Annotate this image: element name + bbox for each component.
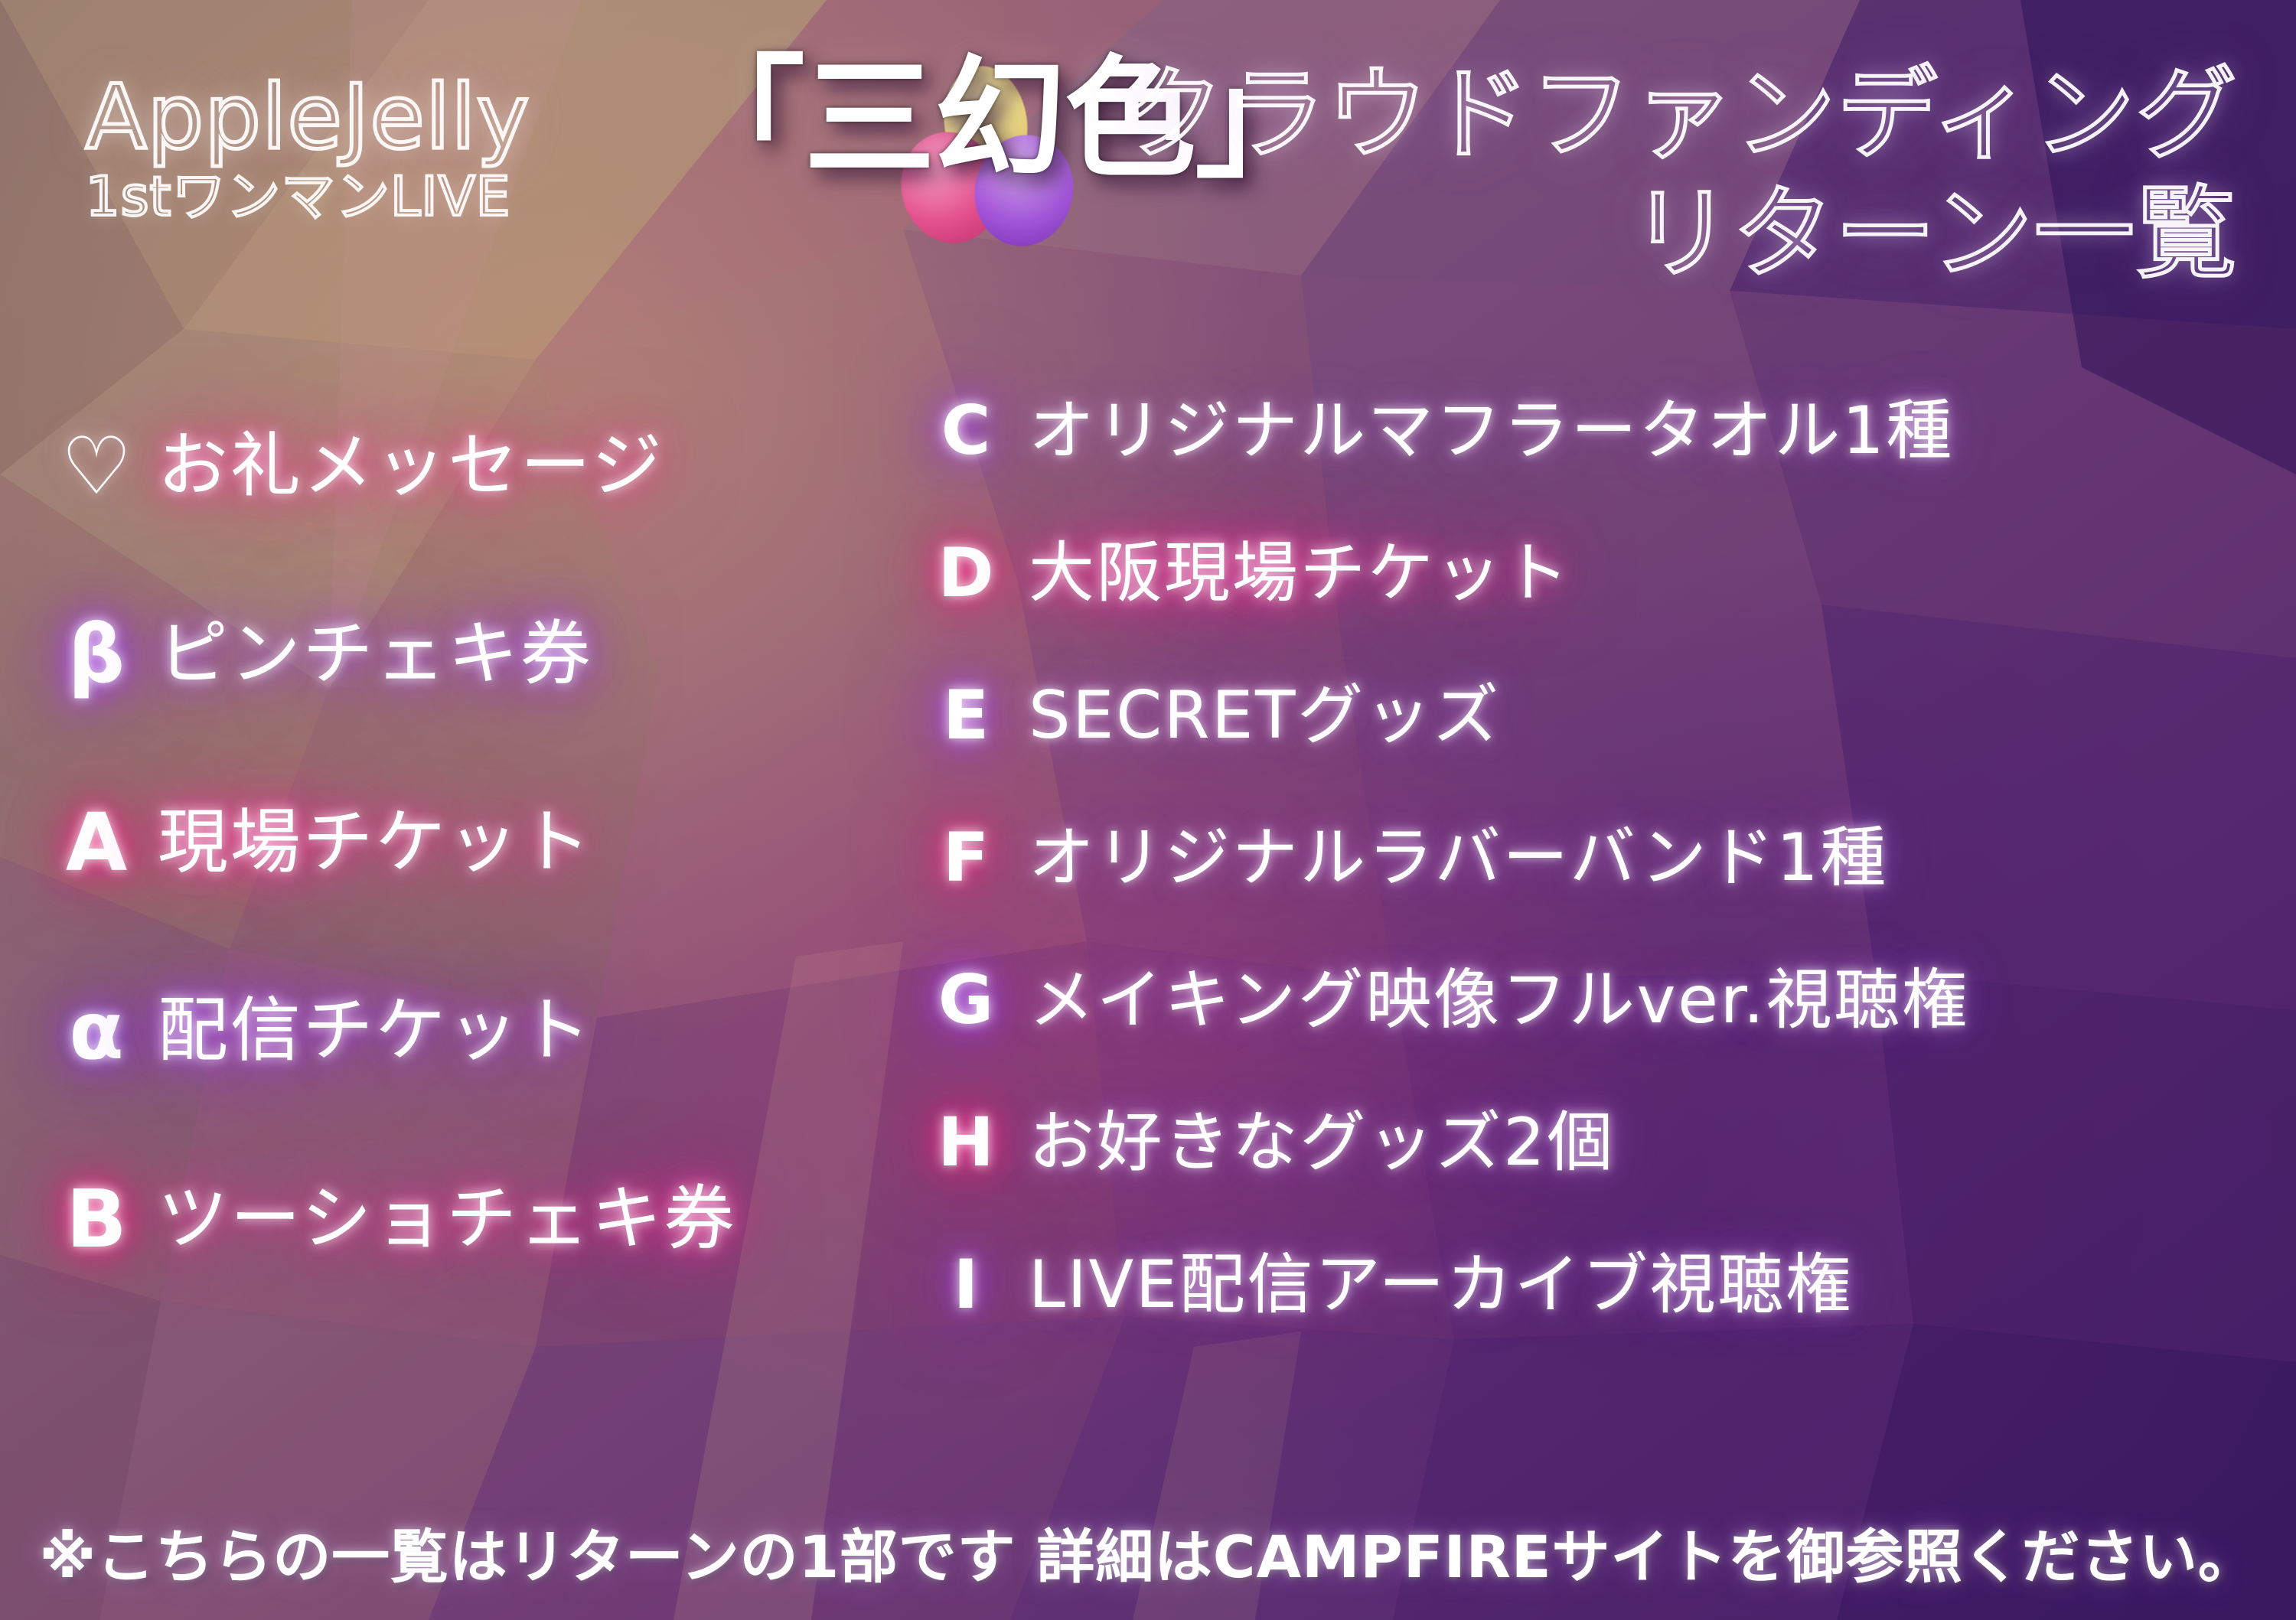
return-label: SECRETグッズ bbox=[1029, 683, 1501, 748]
return-row[interactable]: ♡お礼メッセージ bbox=[54, 372, 888, 560]
return-label: LIVE配信アーカイブ視聴権 bbox=[1029, 1252, 1853, 1318]
return-label: お好きなグッズ2個 bbox=[1029, 1110, 1615, 1175]
return-row[interactable]: A現場チケット bbox=[54, 748, 888, 937]
return-label: 現場チケット bbox=[158, 807, 593, 878]
return-label: オリジナルマフラータオル1種 bbox=[1029, 398, 1954, 464]
brand-subtitle: 1stワンマンLIVE bbox=[86, 170, 530, 223]
returns-right-column: Cオリジナルマフラータオル1種D大阪現場チケットESECRETグッズFオリジナル… bbox=[926, 360, 2296, 1356]
returns-left-column: ♡お礼メッセージβピンチェキ券A現場チケットα配信チケットBツーショチェキ券 bbox=[54, 372, 888, 1313]
return-key-b: B bbox=[54, 1179, 139, 1259]
return-key-c: C bbox=[926, 397, 1006, 464]
return-key-heart-icon: ♡ bbox=[54, 426, 139, 506]
poster-header: AppleJelly 1stワンマンLIVE 「三幻色」 クラウドファンディング… bbox=[0, 0, 2296, 352]
return-key-e: E bbox=[926, 682, 1006, 749]
brand-block: AppleJelly 1stワンマンLIVE bbox=[86, 73, 530, 223]
return-label: ピンチェキ券 bbox=[158, 619, 593, 689]
return-key-i: I bbox=[926, 1251, 1006, 1318]
crowdfunding-heading-line2: リターン一覧 bbox=[1631, 184, 2238, 285]
return-label: お礼メッセージ bbox=[158, 431, 664, 501]
return-row[interactable]: Bツーショチェキ券 bbox=[54, 1125, 888, 1313]
brand-name: AppleJelly bbox=[86, 73, 530, 162]
footer-note-bar: ※こちらの一覧はリターンの1部です 詳細はCAMPFIREサイトを御参照ください… bbox=[0, 1510, 2296, 1594]
return-row[interactable]: Gメイキング映像フルver.視聴権 bbox=[926, 929, 2296, 1071]
return-row[interactable]: ESECRETグッズ bbox=[926, 644, 2296, 787]
return-key-f: F bbox=[926, 824, 1006, 891]
return-row[interactable]: D大阪現場チケット bbox=[926, 502, 2296, 644]
returns-columns: ♡お礼メッセージβピンチェキ券A現場チケットα配信チケットBツーショチェキ券 C… bbox=[0, 360, 2296, 1500]
return-row[interactable]: α配信チケット bbox=[54, 937, 888, 1125]
return-label: ツーショチェキ券 bbox=[158, 1184, 736, 1254]
return-row[interactable]: Hお好きなグッズ2個 bbox=[926, 1071, 2296, 1214]
footer-note: ※こちらの一覧はリターンの1部です 詳細はCAMPFIREサイトを御参照ください… bbox=[39, 1510, 2256, 1594]
return-key-d: D bbox=[926, 539, 1006, 607]
return-row[interactable]: βピンチェキ券 bbox=[54, 560, 888, 748]
return-row[interactable]: Cオリジナルマフラータオル1種 bbox=[926, 360, 2296, 502]
return-label: 配信チケット bbox=[158, 996, 593, 1066]
return-row[interactable]: Fオリジナルラバーバンド1種 bbox=[926, 787, 2296, 929]
return-label: メイキング映像フルver.視聴権 bbox=[1029, 967, 1969, 1033]
return-label: 大阪現場チケット bbox=[1029, 540, 1571, 606]
return-key-g: G bbox=[926, 966, 1006, 1034]
return-list-poster: AppleJelly 1stワンマンLIVE 「三幻色」 クラウドファンディング… bbox=[0, 0, 2296, 1620]
return-row[interactable]: ILIVE配信アーカイブ視聴権 bbox=[926, 1214, 2296, 1356]
return-key-h: H bbox=[926, 1109, 1006, 1176]
return-key-α: α bbox=[54, 991, 139, 1071]
crowdfunding-heading-line1: クラウドファンディング bbox=[1123, 64, 2238, 165]
return-label: オリジナルラバーバンド1種 bbox=[1029, 825, 1888, 891]
return-key-a: A bbox=[54, 803, 139, 882]
return-key-β: β bbox=[54, 614, 139, 694]
